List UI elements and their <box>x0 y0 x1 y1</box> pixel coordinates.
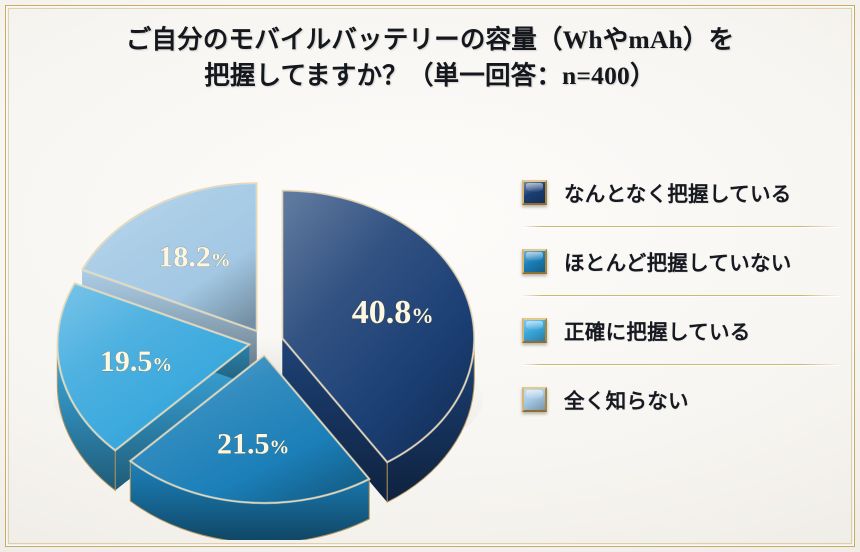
legend-item-2[interactable]: 正確に把握している <box>522 296 840 364</box>
legend-swatch-lightblue <box>522 387 547 412</box>
chart-title-line-2: 把握してますか？（単一回答：n=400） <box>0 58 860 94</box>
legend-label-1: ほとんど把握していない <box>564 246 792 276</box>
legend-label-0: なんとなく把握している <box>564 177 792 207</box>
legend-swatch-navy <box>522 180 547 205</box>
chart-title-line-1: ご自分のモバイルバッテリーの容量（WhやmAh）を <box>0 22 860 58</box>
legend-swatch-cyan <box>522 318 547 343</box>
legend-item-3[interactable]: 全く知らない <box>522 365 840 433</box>
chart-legend: なんとなく把握している ほとんど把握していない 正確に把握している 全く知らない <box>522 158 840 433</box>
legend-item-0[interactable]: なんとなく把握している <box>522 158 840 226</box>
chart-title: ご自分のモバイルバッテリーの容量（WhやmAh）を 把握してますか？（単一回答：… <box>0 22 860 94</box>
legend-label-3: 全く知らない <box>564 384 689 414</box>
pie-chart-svg: 40.8%21.5%19.5%18.2% <box>18 100 518 540</box>
pie-chart: 40.8%21.5%19.5%18.2% <box>18 100 518 540</box>
legend-swatch-blue <box>522 249 547 274</box>
legend-item-1[interactable]: ほとんど把握していない <box>522 227 840 295</box>
infographic-root: ご自分のモバイルバッテリーの容量（WhやmAh）を 把握してますか？（単一回答：… <box>0 0 860 552</box>
legend-label-2: 正確に把握している <box>564 315 751 345</box>
